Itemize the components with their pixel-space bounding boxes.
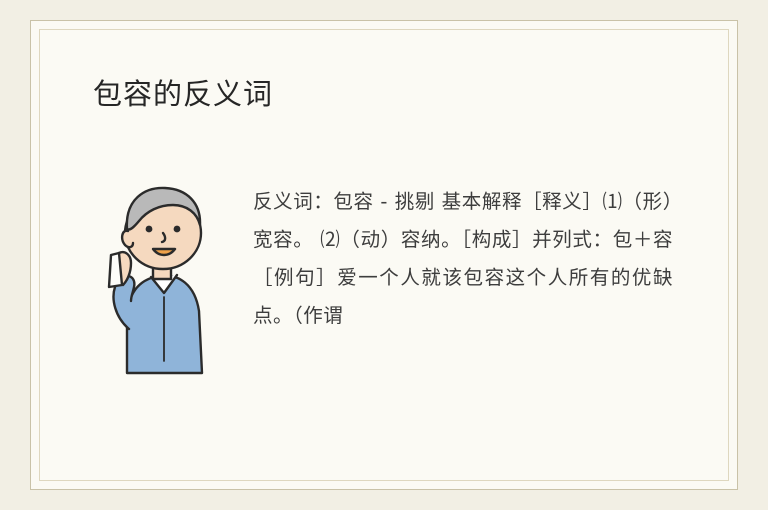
content-card: 包容的反义词: [30, 20, 738, 490]
illustration-elderly-man: [89, 161, 229, 376]
page-title: 包容的反义词: [93, 71, 273, 113]
definition-text: 反义词：包容 - 挑剔 基本解释［释义］⑴（形）宽容。 ⑵（动）容纳。［构成］并…: [253, 183, 673, 335]
